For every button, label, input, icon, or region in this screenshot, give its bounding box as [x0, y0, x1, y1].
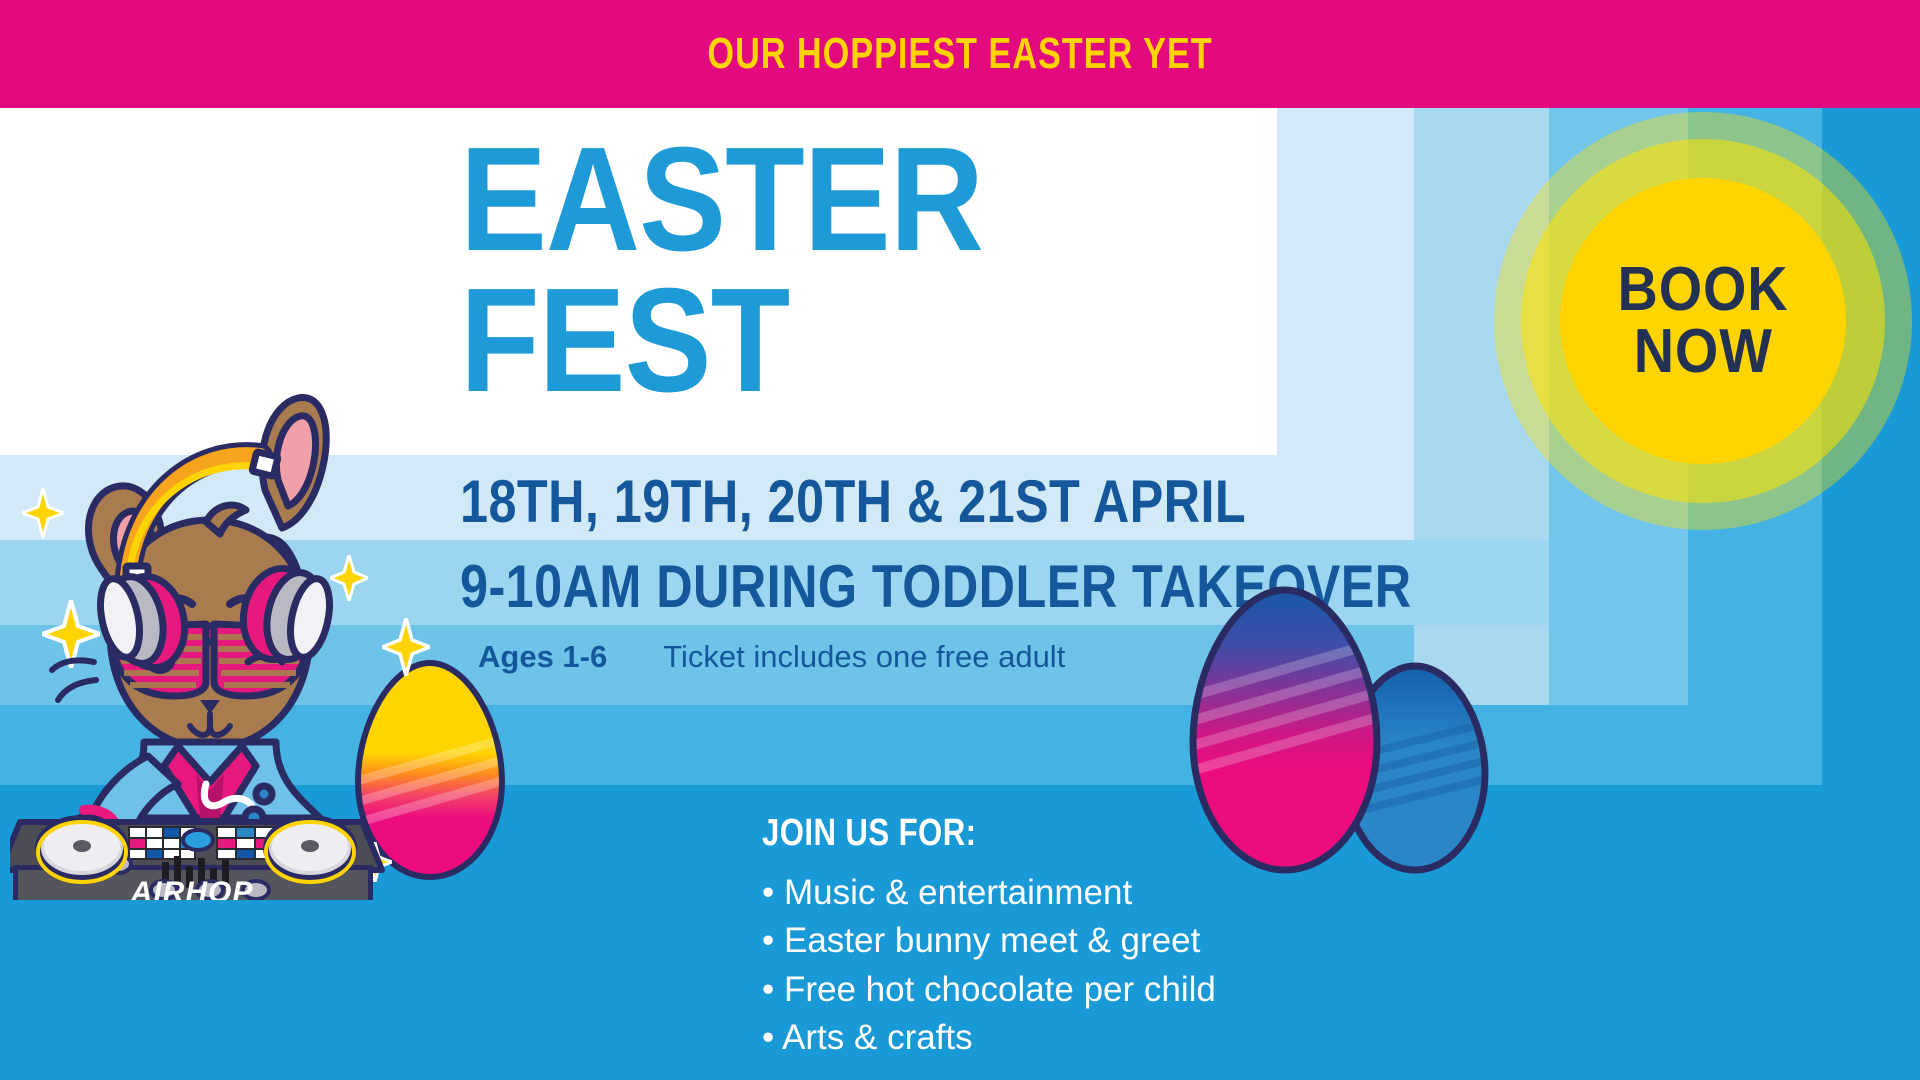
list-item: • Free hot chocolate per child [762, 966, 1216, 1014]
join-us-block: JOIN US FOR: • Music & entertainment • E… [762, 812, 1216, 1062]
dj-bunny-mascot: AIRHOP [10, 370, 410, 900]
book-now-core[interactable]: BOOK NOW [1560, 178, 1846, 464]
join-us-heading: JOIN US FOR: [762, 812, 1134, 855]
book-now-label-line-2: NOW [1633, 321, 1772, 383]
page-title: EASTER FEST [460, 130, 1054, 411]
list-item: • Arts & crafts [762, 1014, 1216, 1062]
ticket-note-label: Ticket includes one free adult [663, 639, 1065, 675]
easter-fest-promo-banner: OUR HOPPIEST EASTER YET EASTER FEST 18TH… [0, 0, 1920, 1080]
top-banner-headline: OUR HOPPIEST EASTER YET [211, 0, 1709, 108]
list-item: • Easter bunny meet & greet [762, 917, 1216, 965]
join-us-list: • Music & entertainment • Easter bunny m… [762, 869, 1216, 1062]
event-dates-text: 18TH, 19TH, 20TH & 21ST APRIL [460, 467, 1246, 536]
easter-eggs-pair [1185, 570, 1505, 890]
deck-brand-label: AIRHOP [130, 876, 254, 900]
event-dates-line: 18TH, 19TH, 20TH & 21ST APRIL [460, 467, 1396, 536]
title-line-1: EASTER [460, 130, 983, 271]
list-item: • Music & entertainment [762, 869, 1216, 917]
book-now-label-line-1: BOOK [1618, 259, 1789, 321]
event-details-row: Ages 1-6 Ticket includes one free adult [478, 639, 1065, 675]
title-line-2: FEST [460, 271, 983, 412]
book-now-button[interactable]: BOOK NOW [1494, 112, 1912, 530]
top-banner-bar: OUR HOPPIEST EASTER YET [0, 0, 1920, 108]
